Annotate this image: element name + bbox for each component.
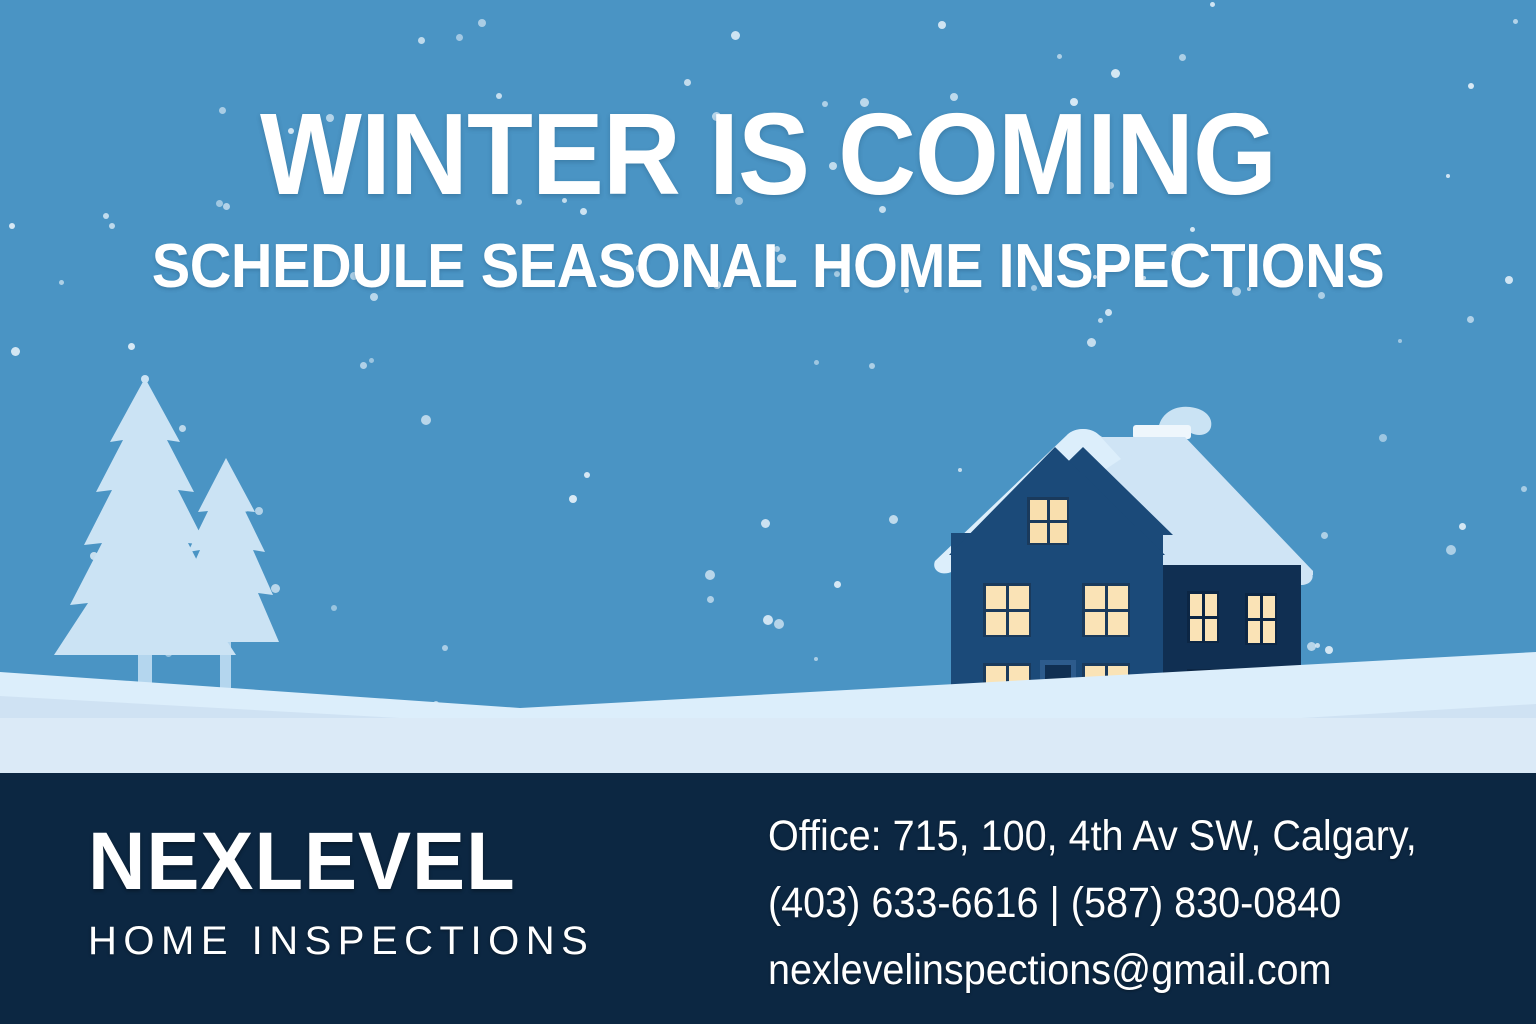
snow-foreground xyxy=(0,718,1536,780)
brand-name: NEXLEVEL xyxy=(88,821,631,903)
brand-tagline: HOME INSPECTIONS xyxy=(88,921,648,961)
hero-text-block: WINTER IS COMING SCHEDULE SEASONAL HOME … xyxy=(0,96,1536,298)
poster-canvas: WINTER IS COMING SCHEDULE SEASONAL HOME … xyxy=(0,0,1536,1024)
page-title: WINTER IS COMING xyxy=(54,96,1482,212)
footer-bar: NEXLEVEL HOME INSPECTIONS Office: 715, 1… xyxy=(0,773,1536,1024)
contact-address: Office: 715, 100, 4th Av SW, Calgary, xyxy=(768,815,1430,858)
page-subtitle: SCHEDULE SEASONAL HOME INSPECTIONS xyxy=(54,236,1482,298)
contact-phones[interactable]: (403) 633-6616 | (587) 830-0840 xyxy=(768,882,1430,925)
contact-block: Office: 715, 100, 4th Av SW, Calgary, (4… xyxy=(768,815,1488,992)
contact-email[interactable]: nexlevelinspections@gmail.com xyxy=(768,949,1430,992)
brand-logo: NEXLEVEL HOME INSPECTIONS xyxy=(88,821,648,961)
snow-ground xyxy=(0,600,1536,780)
gable-window xyxy=(1027,497,1069,545)
